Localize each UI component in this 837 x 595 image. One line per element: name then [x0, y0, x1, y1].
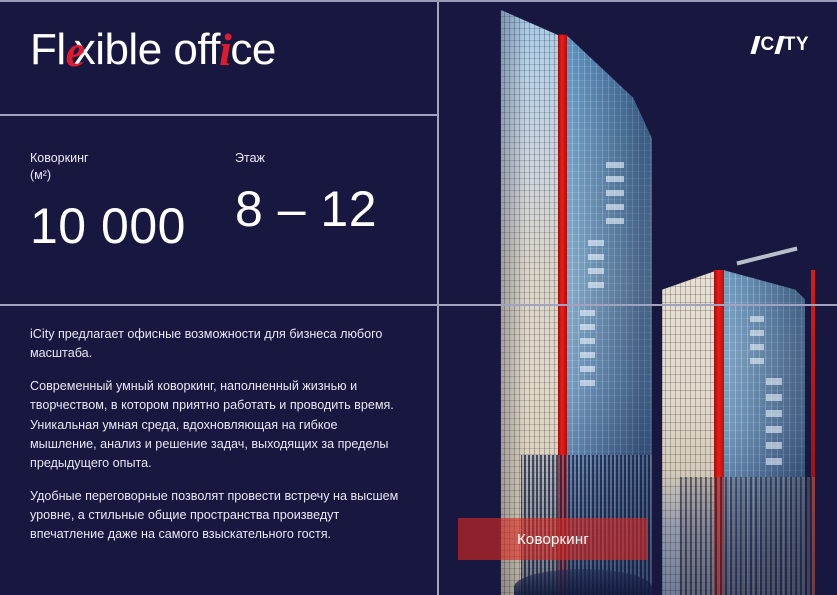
tower-window-highlight	[580, 352, 595, 358]
tower-window-highlight	[766, 442, 782, 449]
presentation-slide: Коворкинг Flexible office	[0, 0, 837, 595]
tower-window-highlight	[588, 240, 604, 246]
tower-window-highlight	[606, 190, 624, 196]
stat-coworking-label: Коворкинг (м²)	[30, 150, 186, 184]
stat-floor: Этаж 8 – 12	[235, 150, 377, 234]
tower-window-highlight	[606, 204, 624, 210]
tower-window-highlight	[580, 380, 595, 386]
tower-window-highlight	[588, 268, 604, 274]
tower-window-highlight	[580, 324, 595, 330]
stat-coworking-value: 10 000	[30, 201, 186, 251]
tower-window-highlight	[750, 344, 764, 350]
title-part-1: Fl	[30, 25, 66, 74]
stat-floor-value: 8 – 12	[235, 184, 377, 234]
tower-window-highlight	[580, 338, 595, 344]
tower-window-highlight	[580, 366, 595, 372]
logo-text-c: C	[760, 34, 774, 56]
description-paragraph-3: Удобные переговорные позволят провести в…	[30, 487, 406, 544]
title-part-3: ce	[230, 25, 275, 74]
title-accent-letter-i: i	[219, 27, 231, 73]
logo-text-ty: TY	[784, 34, 809, 56]
coworking-band: Коворкинг	[458, 518, 648, 560]
tower-window-highlight	[750, 316, 764, 322]
description-copy: iCity предлагает офисные возможности для…	[30, 325, 406, 544]
tower-main	[484, 10, 652, 595]
top-divider-rule	[0, 0, 837, 2]
tower-window-highlight	[766, 410, 782, 417]
description-paragraph-1: iCity предлагает офисные возможности для…	[30, 325, 406, 363]
tower-window-highlight	[750, 358, 764, 364]
tower-window-highlight	[766, 458, 782, 465]
title-accent-letter-e: e	[66, 30, 85, 74]
tower-window-highlight	[580, 310, 595, 316]
tower-window-highlight	[750, 330, 764, 336]
construction-crane	[736, 247, 797, 266]
stat-coworking: Коворкинг (м²) 10 000	[30, 150, 186, 251]
icity-logo: CTY	[751, 34, 809, 56]
title-part-2: xible off	[74, 25, 220, 74]
description-paragraph-2: Современный умный коворкинг, наполненный…	[30, 377, 406, 473]
tower-window-highlight	[606, 162, 624, 168]
coworking-band-label: Коворкинг	[517, 531, 589, 548]
tower-window-highlight	[588, 254, 604, 260]
tower-window-highlight	[766, 378, 782, 385]
tower-window-highlight	[588, 282, 604, 288]
tower-secondary	[650, 270, 815, 595]
building-render-image: Коворкинг	[438, 2, 837, 595]
page-title: Flexible office	[30, 26, 276, 72]
tower-window-highlight	[766, 426, 782, 433]
text-panel: Flexible office Коворкинг (м²) 10 000 Эт…	[0, 0, 438, 595]
stat-floor-label: Этаж	[235, 150, 377, 167]
tower-window-highlight	[606, 176, 624, 182]
tower-window-highlight	[766, 394, 782, 401]
tower-window-highlight	[606, 218, 624, 224]
